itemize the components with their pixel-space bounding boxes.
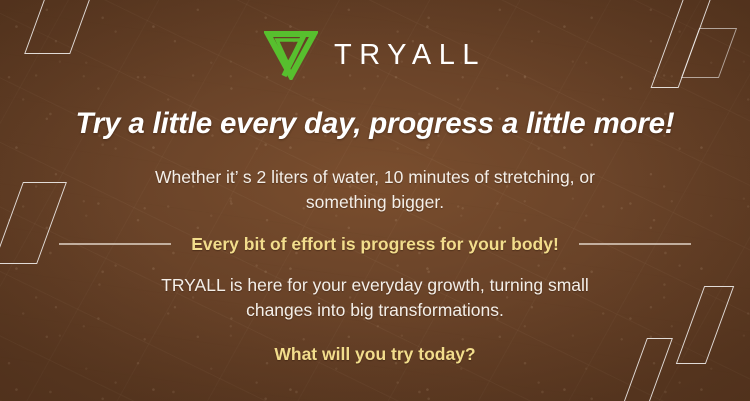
- brand-wordmark: TRYALL: [334, 41, 486, 70]
- accent-line: Every bit of effort is progress for your…: [191, 234, 559, 255]
- brand-lockup: TRYALL: [264, 26, 486, 85]
- promo-banner: TRYALL Try a little every day, progress …: [0, 0, 750, 401]
- body-paragraph-bottom: TRYALL is here for your everyday growth,…: [161, 273, 589, 324]
- horizontal-rule-right: [579, 243, 691, 245]
- banner-content: TRYALL Try a little every day, progress …: [0, 0, 750, 401]
- accent-divider-row: Every bit of effort is progress for your…: [0, 234, 750, 255]
- body-line-4: changes into big transformations.: [161, 298, 589, 323]
- body-line-1: Whether it’ s 2 liters of water, 10 minu…: [155, 165, 595, 190]
- headline: Try a little every day, progress a littl…: [76, 107, 675, 141]
- closing-line: What will you try today?: [274, 344, 475, 365]
- tryall-v-mark-icon: [264, 26, 318, 85]
- body-line-2: something bigger.: [155, 190, 595, 215]
- horizontal-rule-left: [59, 243, 171, 245]
- body-paragraph-top: Whether it’ s 2 liters of water, 10 minu…: [155, 165, 595, 216]
- body-line-3: TRYALL is here for your everyday growth,…: [161, 273, 589, 298]
